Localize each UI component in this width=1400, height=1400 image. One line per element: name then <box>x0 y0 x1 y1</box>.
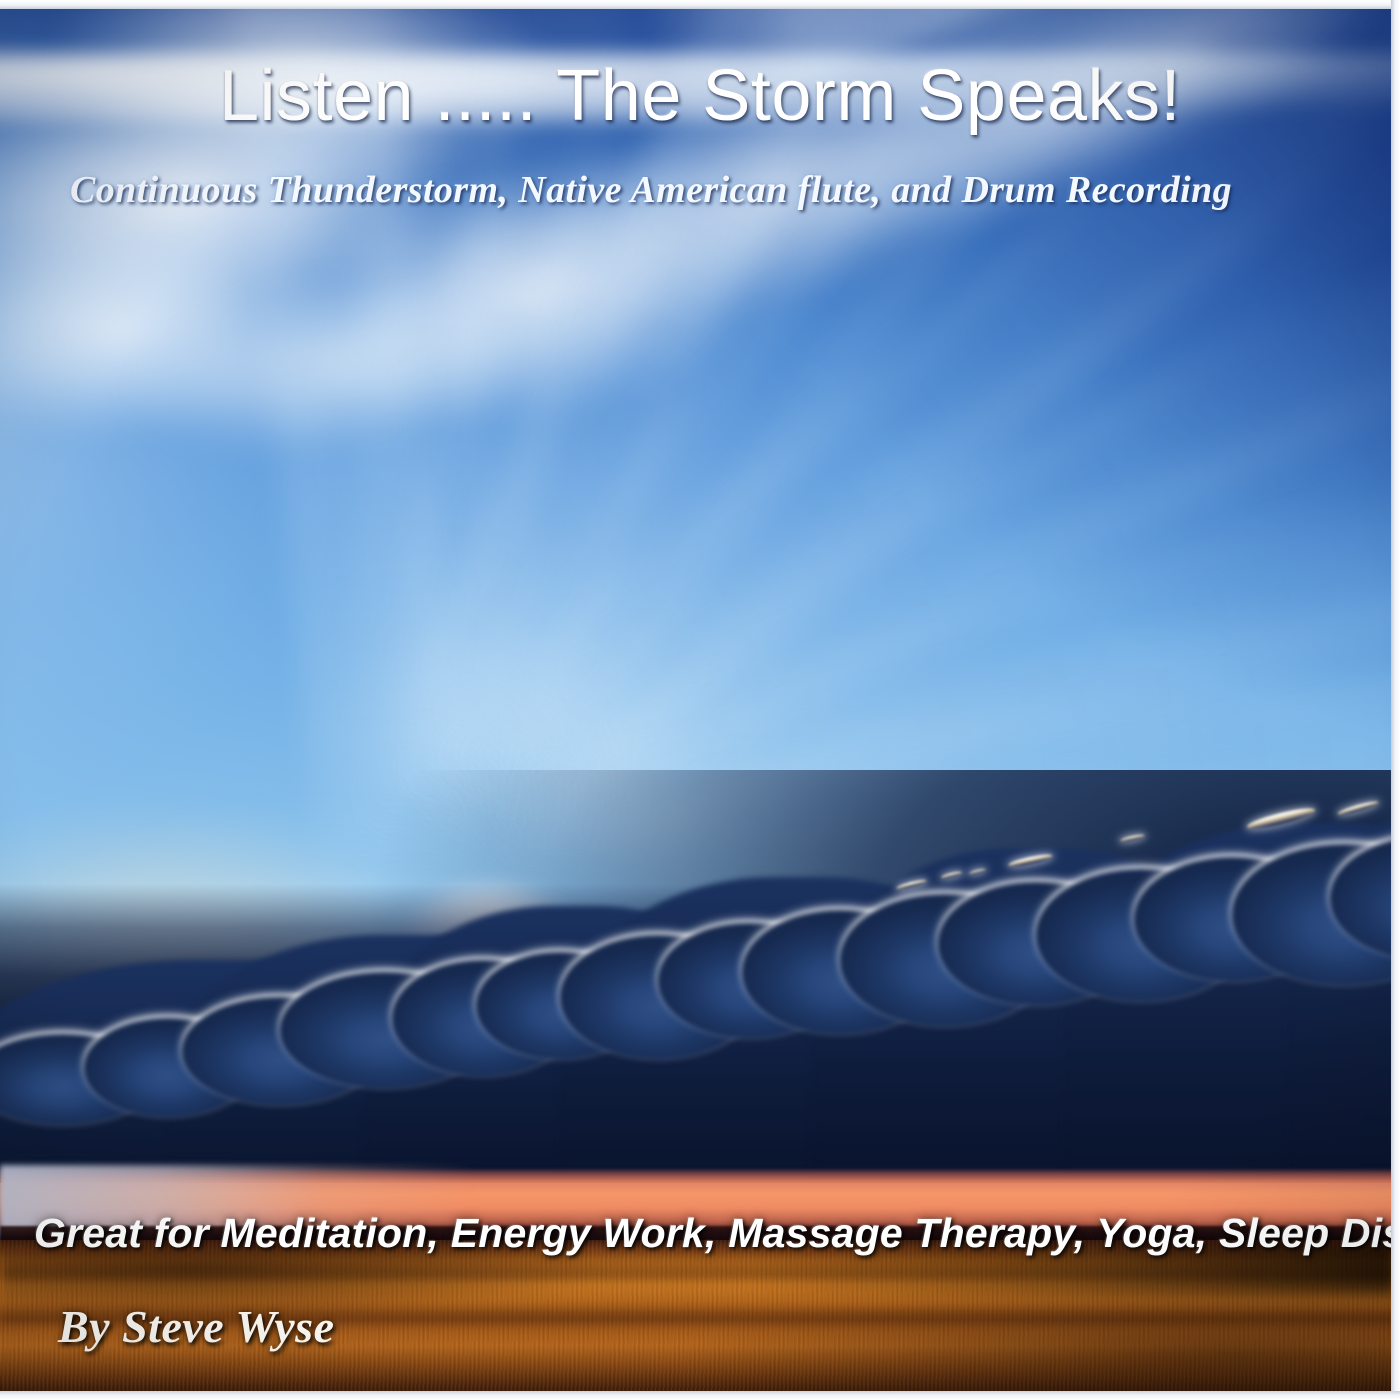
album-tagline: Great for Meditation, Energy Work, Massa… <box>34 1210 1400 1257</box>
album-subtitle: Continuous Thunderstorm, Native American… <box>70 168 1232 212</box>
album-byline-artist: By Steve Wyse <box>58 1300 334 1353</box>
album-cover-artwork: Listen ..... The Storm Speaks! Continuou… <box>0 0 1400 1400</box>
album-title: Listen ..... The Storm Speaks! <box>0 55 1400 137</box>
frame-edge-bottom <box>0 1391 1400 1400</box>
frame-edge-top <box>0 0 1400 9</box>
frame-edge-right <box>1391 0 1400 1400</box>
storm-cloud-mass <box>0 770 1400 1183</box>
